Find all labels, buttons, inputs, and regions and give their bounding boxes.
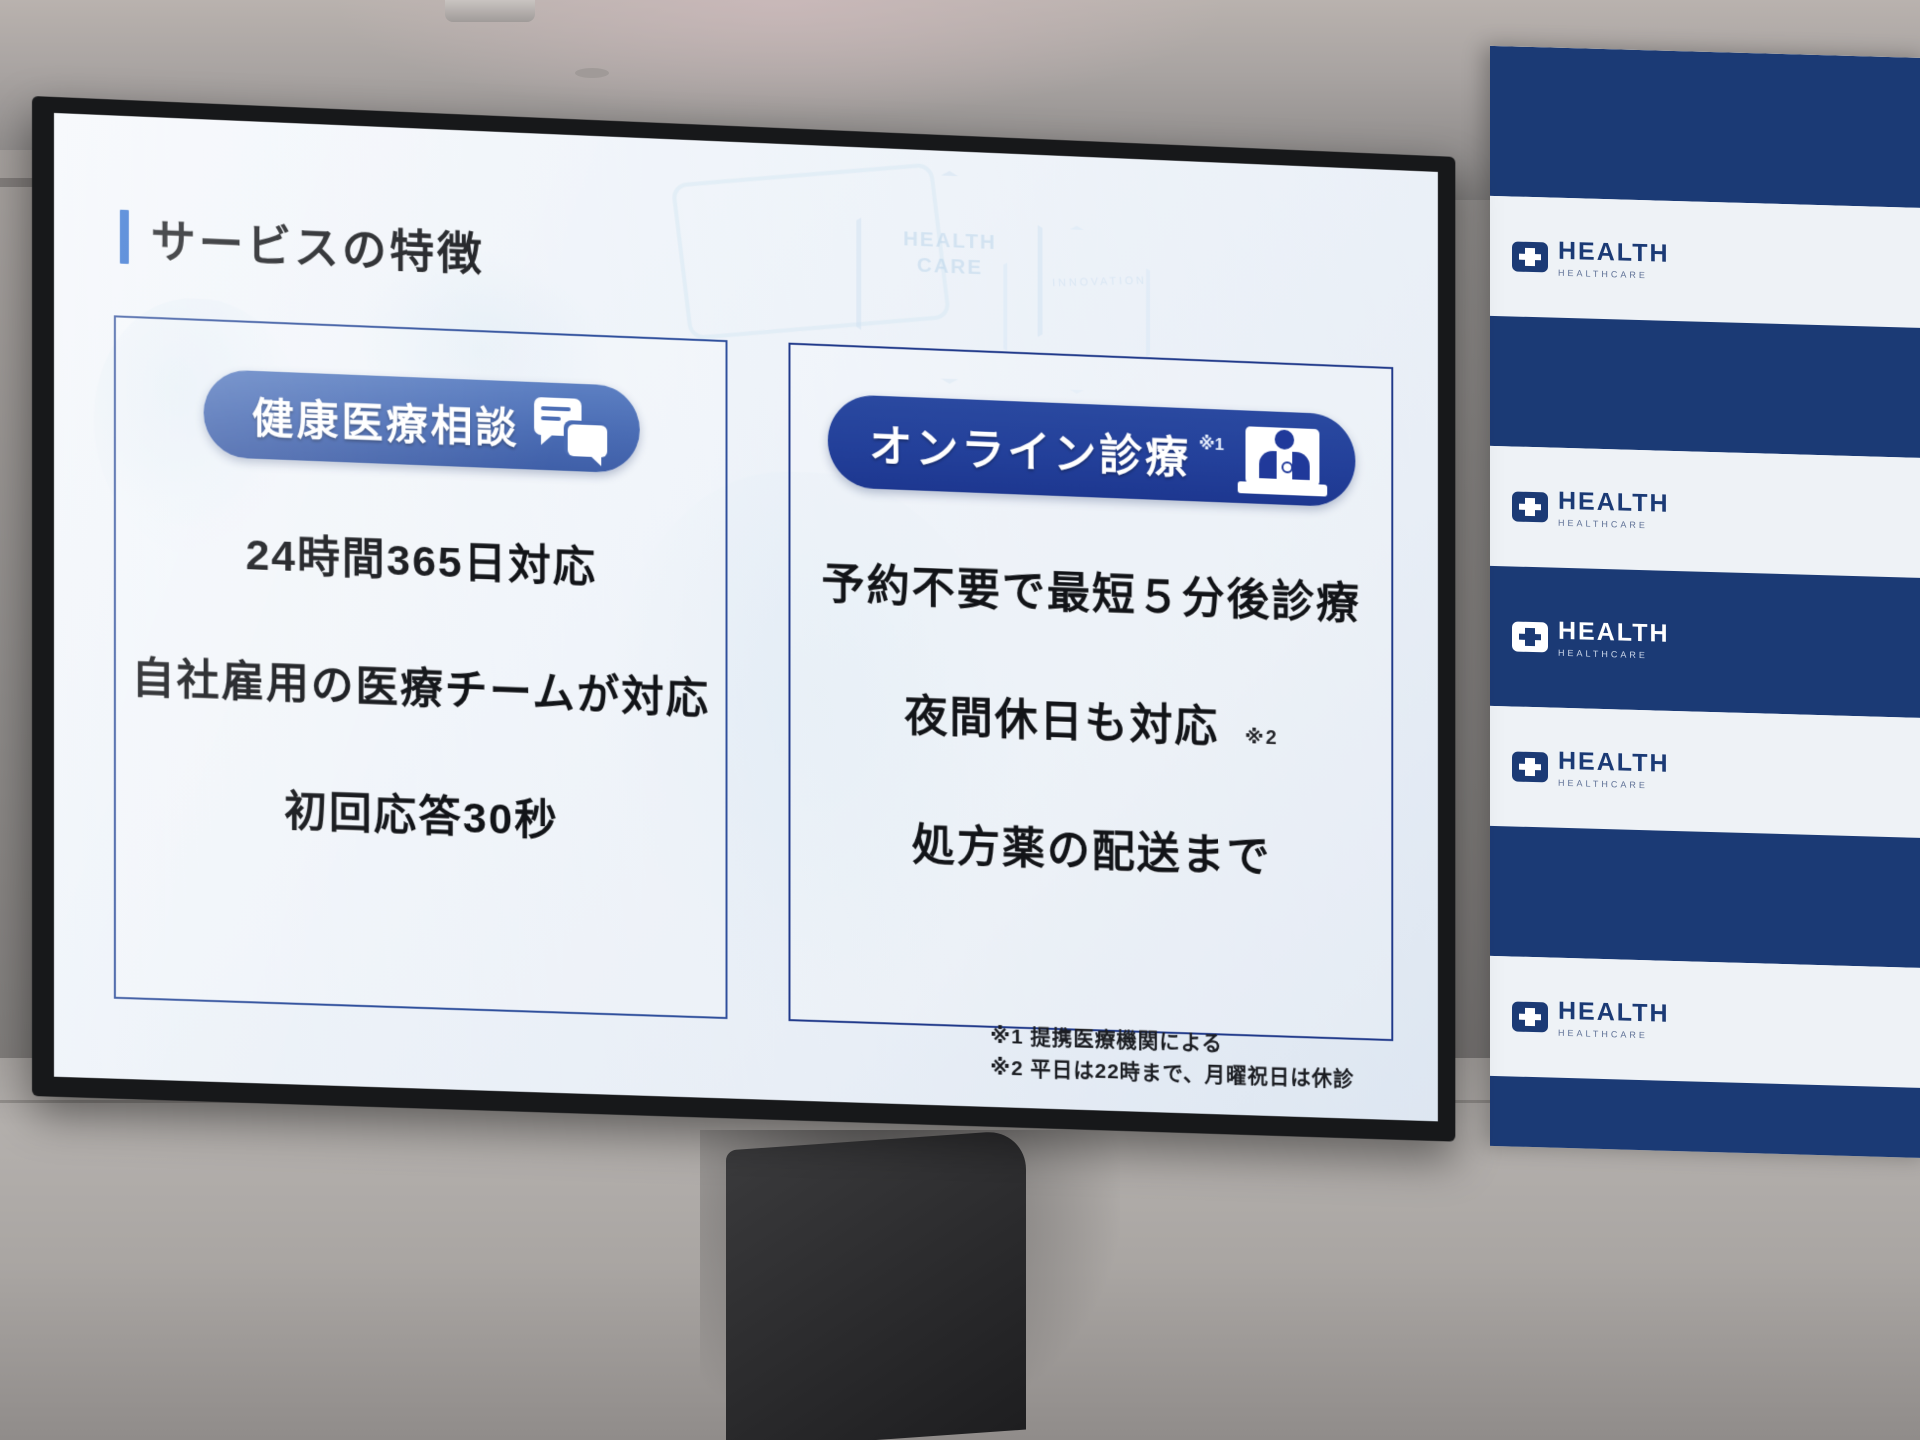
banner-logo-name: HEALTH [1558, 748, 1670, 776]
watermark-health-care-text: HEALTH CARE [884, 226, 1016, 283]
feature-text: 自社雇用の医療チームが対応 [131, 655, 710, 724]
banner-logo-name: HEALTH [1558, 488, 1670, 516]
badge-label: オンライン診療 [869, 410, 1191, 486]
feature-card-online-medical: オンライン診療 ※1 [789, 343, 1394, 1041]
banner-band [1490, 46, 1920, 208]
feature-item: 夜間休日も対応 ※2 [904, 680, 1278, 757]
presentation-slide: HEALTH CARE INNOVATION サービスの特徴 健康医療相談 [54, 113, 1438, 1121]
feature-card-health-consultation: 健康医療相談 24時間365日対応 自社雇用の医療チームが対応 [114, 315, 728, 1019]
ceiling-light-fixture [445, 0, 535, 22]
banner-logo: HEALTH HEALTHCARE [1490, 956, 1920, 1088]
feature-text: 夜間休日も対応 [904, 692, 1219, 752]
banner-logo-sub: HEALTHCARE [1558, 268, 1670, 280]
banner-logo: HEALTH HEALTHCARE [1490, 196, 1920, 328]
medical-cross-icon [1512, 1001, 1548, 1032]
banner-band [1490, 316, 1920, 458]
watermark-innovation-text: INNOVATION [1052, 275, 1147, 290]
banner-band [1490, 1076, 1920, 1158]
watermark-line-2: CARE [917, 254, 983, 280]
card-feature-list: 24時間365日対応 自社雇用の医療チームが対応 初回応答30秒 [116, 515, 726, 854]
sponsor-banner: HEALTH HEALTHCARE HEALTH HEALTHCARE HEAL… [1490, 46, 1920, 1158]
watermark-box-shape [671, 163, 951, 341]
banner-band: HEALTH HEALTHCARE [1490, 566, 1920, 718]
medical-cross-icon [1512, 621, 1548, 652]
feature-item: 予約不要で最短５分後診療 [821, 548, 1360, 632]
badge-footnote-marker: ※1 [1199, 434, 1224, 455]
slide-footnotes: ※1 提携医療機関による ※2 平日は22時まで、月曜祝日は休診 [990, 1021, 1354, 1097]
feature-text: 処方薬の配送まで [912, 821, 1272, 882]
banner-logo-sub: HEALTHCARE [1558, 778, 1670, 790]
foreground-object [726, 1130, 1026, 1440]
feature-item: 24時間365日対応 [246, 520, 597, 595]
feature-text: 24時間365日対応 [246, 531, 597, 592]
feature-item: 初回応答30秒 [284, 777, 558, 848]
banner-logo-sub: HEALTHCARE [1558, 648, 1670, 660]
room-environment: HEALTH HEALTHCARE HEALTH HEALTHCARE HEAL… [0, 0, 1920, 1440]
watermark-line-1: HEALTH [903, 227, 997, 254]
page-title: サービスの特徴 [151, 205, 485, 284]
banner-logo-name: HEALTH [1558, 618, 1670, 646]
feature-text: 初回応答30秒 [284, 788, 558, 845]
medical-cross-icon [1512, 491, 1548, 522]
medical-cross-icon [1512, 241, 1548, 272]
card-badge-online-medical: オンライン診療 ※1 [827, 394, 1355, 508]
feature-text: 予約不要で最短５分後診療 [821, 560, 1360, 629]
banner-logo-sub: HEALTHCARE [1558, 1028, 1670, 1040]
medical-cross-icon [1512, 751, 1548, 782]
banner-band [1490, 826, 1920, 968]
banner-band: HEALTH HEALTHCARE [1490, 956, 1920, 1088]
banner-logo-name: HEALTH [1558, 238, 1670, 266]
feature-item: 処方薬の配送まで [912, 809, 1272, 885]
banner-logo-sub: HEALTHCARE [1558, 518, 1670, 530]
badge-label: 健康医療相談 [252, 384, 520, 455]
card-badge-health-consultation: 健康医療相談 [203, 369, 639, 474]
card-feature-list: 予約不要で最短５分後診療 夜間休日も対応 ※2 処方薬の配送まで [790, 547, 1391, 889]
feature-footnote-marker: ※2 [1245, 726, 1279, 749]
screen-bezel: HEALTH CARE INNOVATION サービスの特徴 健康医療相談 [32, 96, 1455, 1142]
banner-band: HEALTH HEALTHCARE [1490, 446, 1920, 578]
display-screen: HEALTH CARE INNOVATION サービスの特徴 健康医療相談 [32, 96, 1455, 1142]
banner-logo: HEALTH HEALTHCARE [1490, 446, 1920, 578]
title-accent-bar [120, 209, 129, 263]
banner-logo-name: HEALTH [1558, 998, 1670, 1026]
slide-title-row: サービスの特徴 [120, 204, 485, 284]
banner-band: HEALTH HEALTHCARE [1490, 196, 1920, 328]
feature-cards: 健康医療相談 24時間365日対応 自社雇用の医療チームが対応 [114, 315, 1393, 1041]
chat-bubbles-icon [534, 397, 607, 458]
banner-logo: HEALTH HEALTHCARE [1490, 566, 1920, 718]
banner-logo: HEALTH HEALTHCARE [1490, 706, 1920, 838]
feature-item: 自社雇用の医療チームが対応 [131, 644, 710, 727]
banner-band: HEALTH HEALTHCARE [1490, 706, 1920, 838]
doctor-laptop-icon [1238, 420, 1328, 497]
ceiling-sprinkler [575, 68, 609, 78]
